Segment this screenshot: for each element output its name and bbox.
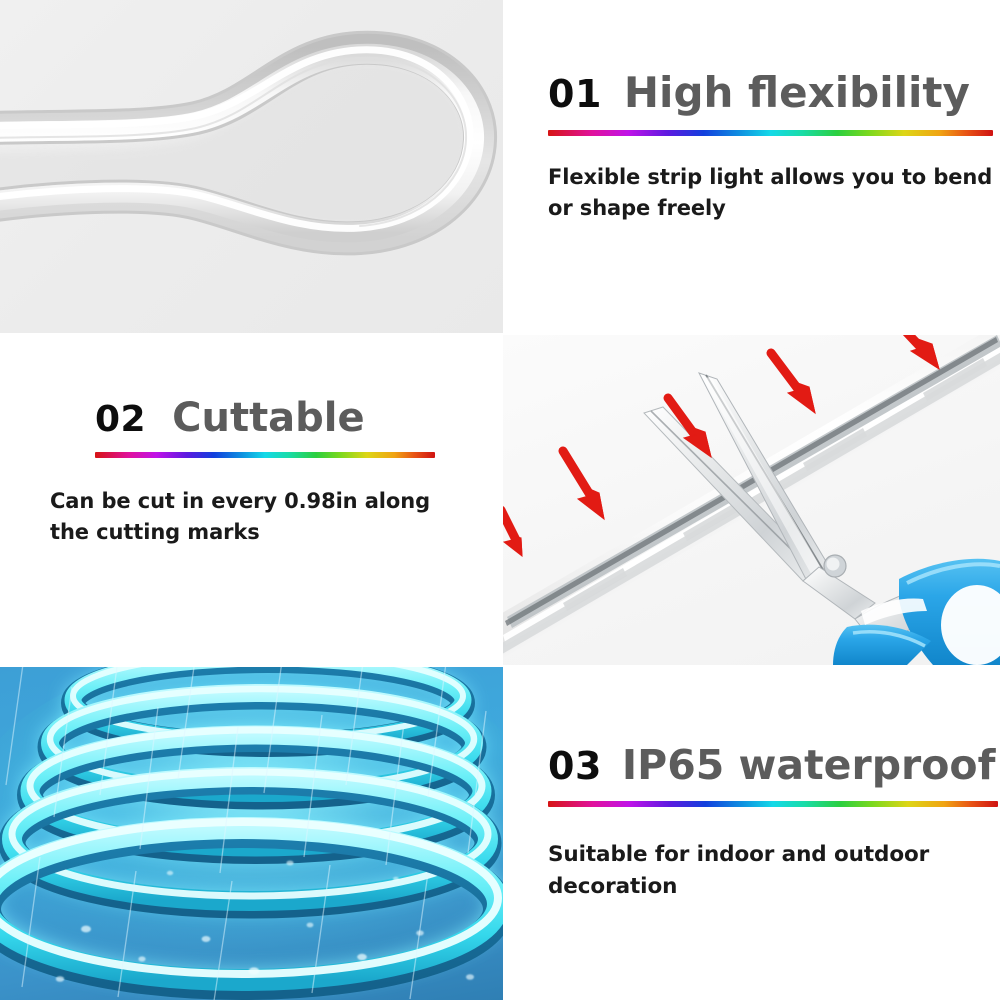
feature-block-02: 02 Cuttable Can be cut in every 0.98in a… [0, 333, 503, 665]
photo-waterproof-coil [0, 667, 503, 1000]
feature-02-title: Cuttable [172, 398, 365, 438]
feature-03-body: Suitable for indoor and outdoor decorati… [548, 839, 998, 903]
feature-03-number: 03 [548, 747, 602, 785]
product-feature-infographic: 01 High flexibility Flexible strip light… [0, 0, 1000, 1000]
rainbow-divider-03 [548, 801, 998, 807]
feature-01-text: 01 High flexibility Flexible strip light… [548, 72, 993, 224]
feature-01-body: Flexible strip light allows you to bend … [548, 162, 993, 224]
feature-02-heading: 02 Cuttable [95, 398, 435, 438]
arrow-icon-2 [563, 451, 604, 519]
flexible-strip-image [0, 0, 503, 333]
feature-02-body: Can be cut in every 0.98in along the cut… [50, 486, 460, 548]
feature-03-title: IP65 waterproof [622, 745, 996, 786]
feature-03-text: 03 IP65 waterproof Suitable for indoor a… [548, 745, 998, 903]
arrow-icon-1 [503, 510, 522, 556]
feature-02-number: 02 [95, 402, 146, 438]
feature-block-03: 03 IP65 waterproof Suitable for indoor a… [503, 665, 1000, 1000]
scissor-pivot-screw [824, 555, 846, 577]
arrow-icon-4 [771, 353, 815, 413]
cutting-strip-image [503, 335, 1000, 665]
waterproof-illustration [0, 667, 503, 1000]
feature-block-01: 01 High flexibility Flexible strip light… [503, 0, 1000, 333]
feature-01-heading: 01 High flexibility [548, 72, 993, 114]
arrow-icon-5 [894, 335, 939, 369]
feature-02-text: 02 Cuttable Can be cut in every 0.98in a… [95, 398, 435, 548]
photo-cutting-strip [503, 335, 1000, 665]
feature-03-heading: 03 IP65 waterproof [548, 745, 998, 786]
rainbow-divider-02 [95, 452, 435, 458]
photo-flexible-strip [0, 0, 503, 333]
feature-01-number: 01 [548, 75, 602, 113]
waterproof-coil-image [0, 667, 503, 1000]
flexible-strip-illustration [0, 0, 503, 333]
cutting-illustration [503, 335, 1000, 665]
rainbow-divider-01 [548, 130, 993, 136]
feature-01-title: High flexibility [624, 72, 970, 114]
